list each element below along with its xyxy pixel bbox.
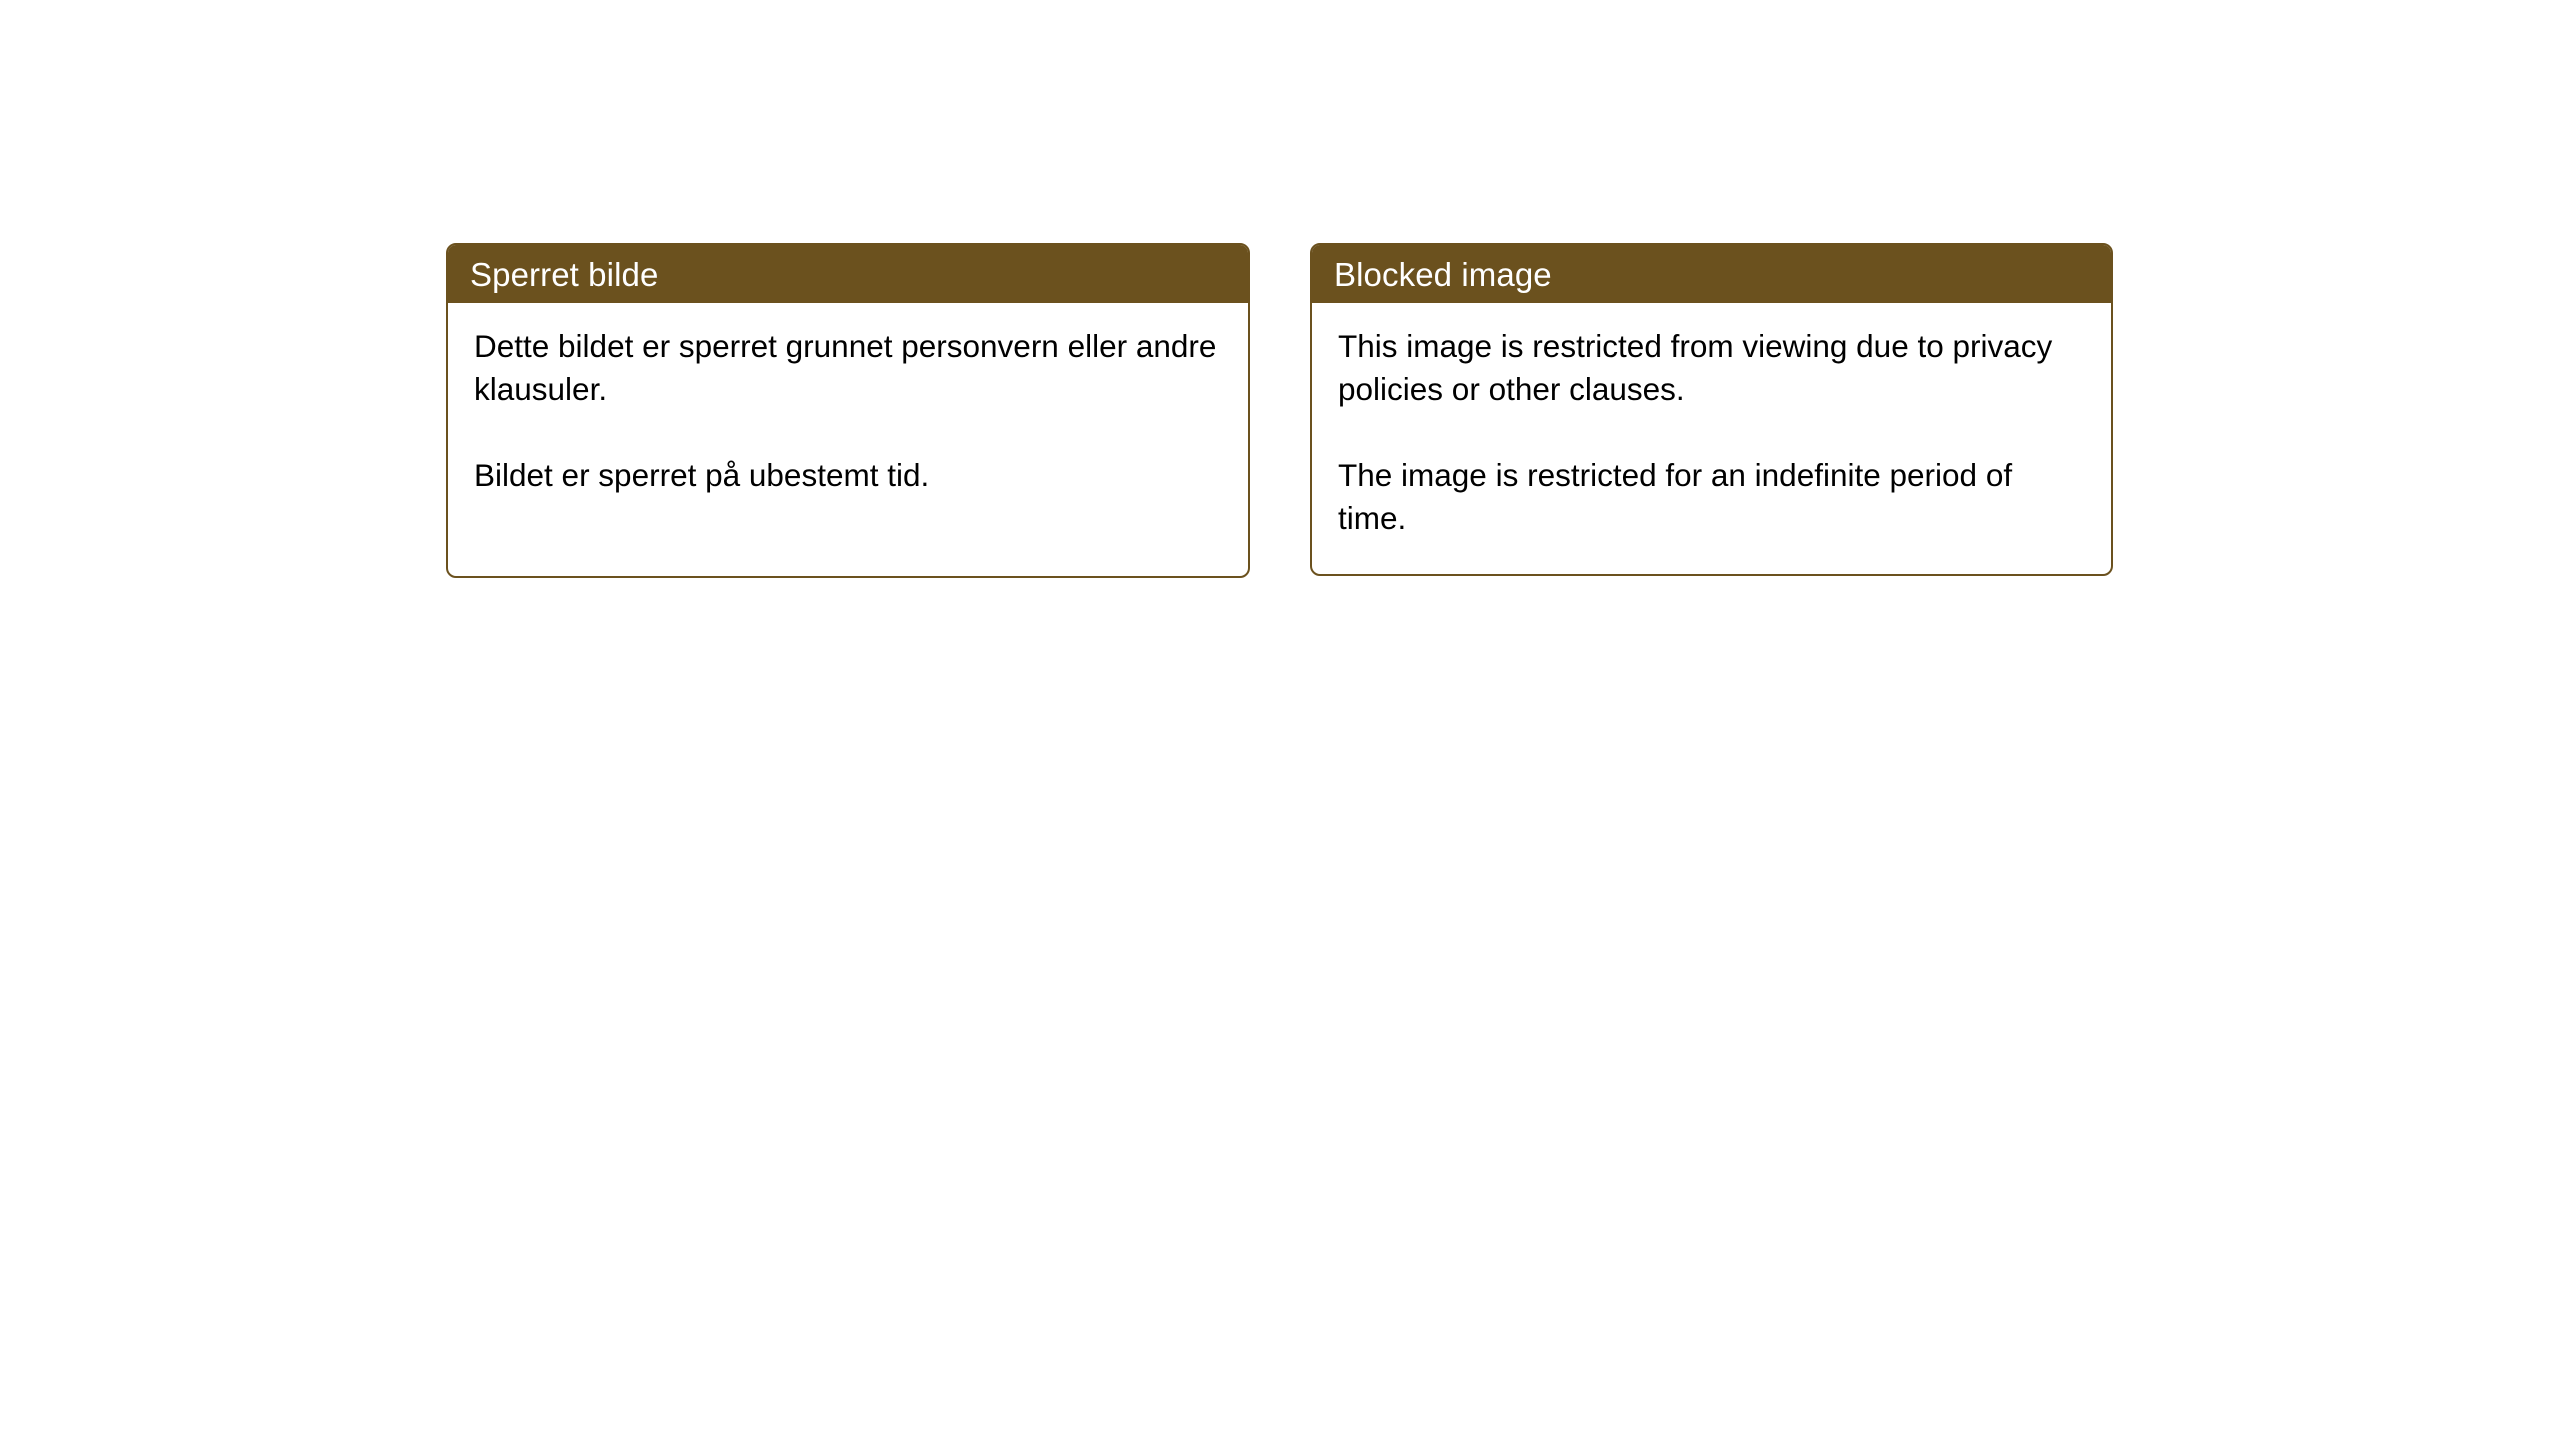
panel-paragraph-nb-1: Dette bildet er sperret grunnet personve… bbox=[474, 325, 1224, 411]
panel-header-nb: Sperret bilde bbox=[448, 245, 1248, 303]
panel-body-nb: Dette bildet er sperret grunnet personve… bbox=[448, 303, 1248, 497]
blocked-image-notice-en: Blocked image This image is restricted f… bbox=[1310, 243, 2113, 576]
page-canvas: Sperret bilde Dette bildet er sperret gr… bbox=[0, 0, 2560, 1440]
panel-body-en: This image is restricted from viewing du… bbox=[1312, 303, 2111, 540]
panel-header-en: Blocked image bbox=[1312, 245, 2111, 303]
panel-paragraph-en-2: The image is restricted for an indefinit… bbox=[1338, 454, 2087, 540]
blocked-image-notice-nb: Sperret bilde Dette bildet er sperret gr… bbox=[446, 243, 1250, 578]
panel-title-nb: Sperret bilde bbox=[470, 258, 658, 291]
panel-paragraph-nb-2: Bildet er sperret på ubestemt tid. bbox=[474, 454, 1224, 497]
panel-paragraph-en-1: This image is restricted from viewing du… bbox=[1338, 325, 2087, 411]
panel-title-en: Blocked image bbox=[1334, 258, 1552, 291]
